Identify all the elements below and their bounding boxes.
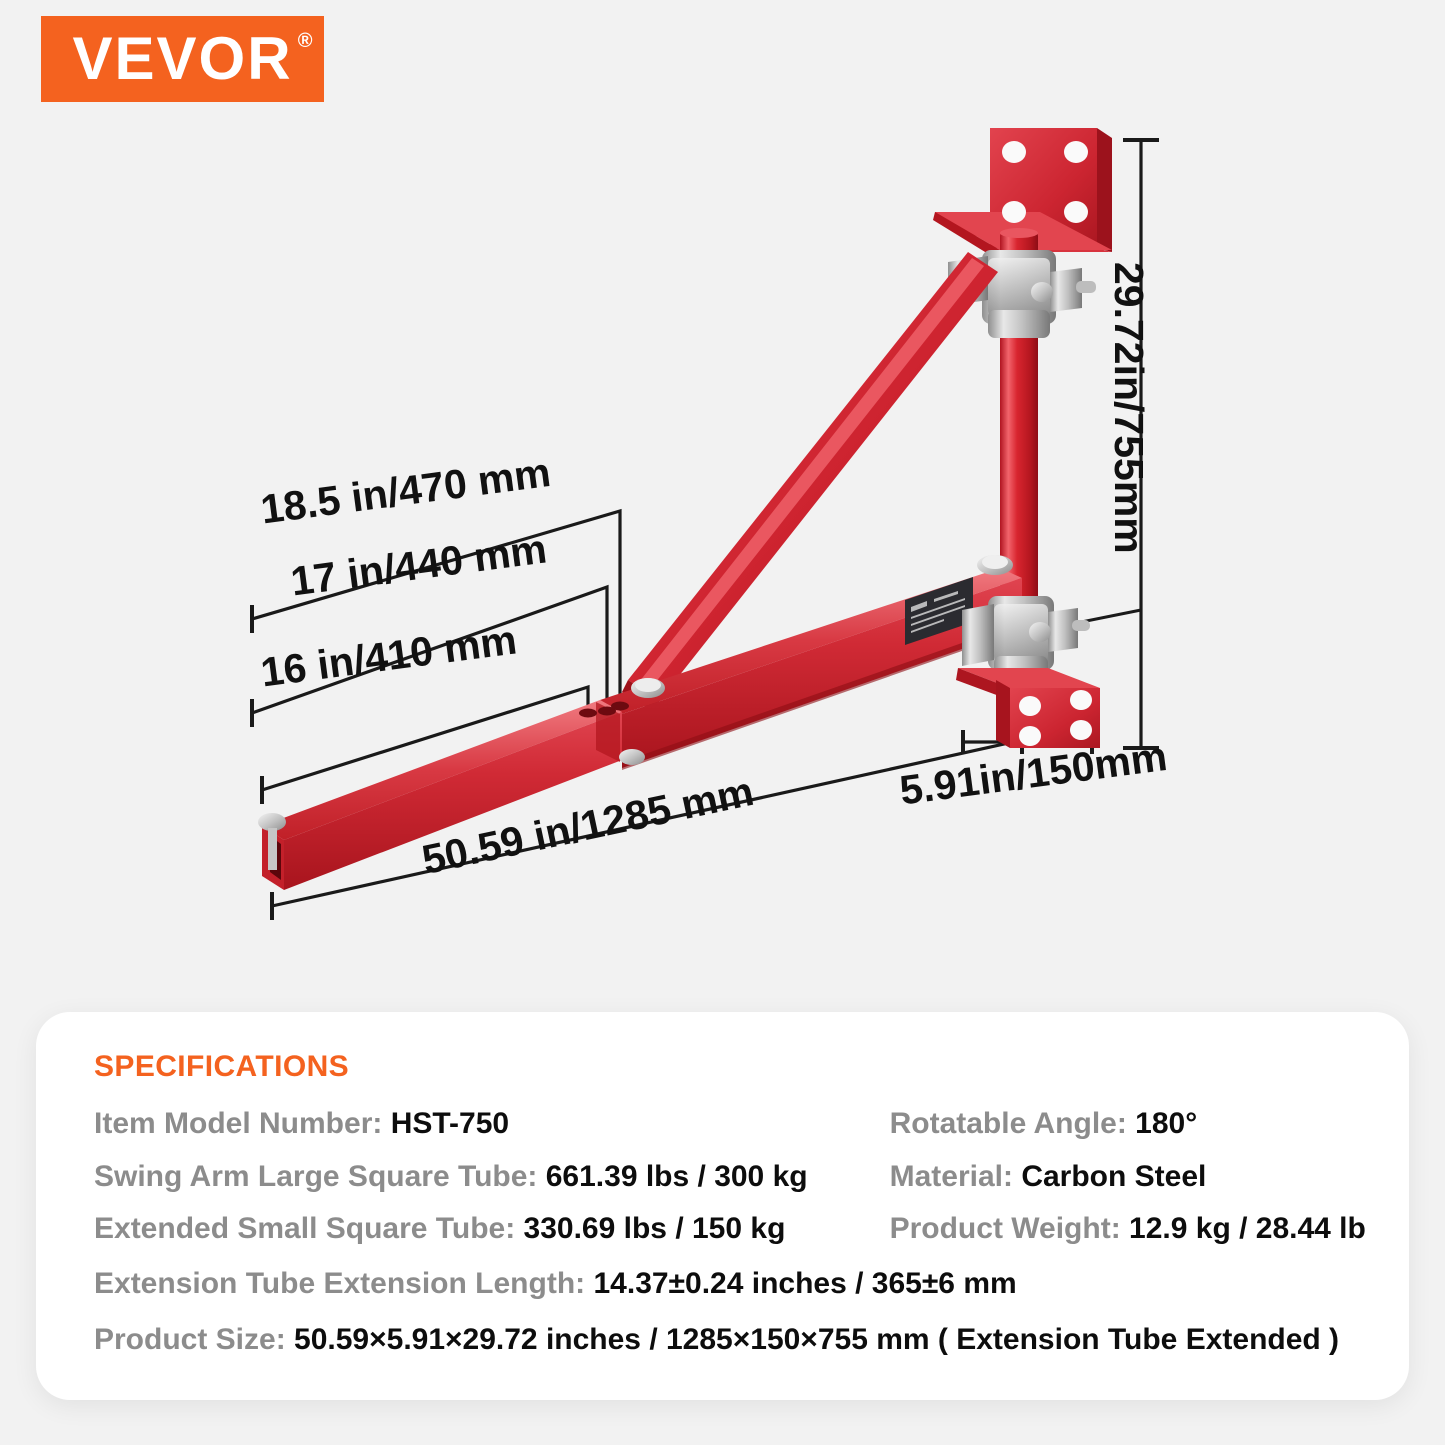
spec-row-item-model-number: Item Model Number: HST-750 bbox=[94, 1104, 808, 1145]
spec-value: HST-750 bbox=[391, 1107, 509, 1140]
specifications-grid: Item Model Number: HST-750 Rotatable Ang… bbox=[94, 1104, 1367, 1250]
product-illustration-svg bbox=[0, 0, 1445, 990]
spec-row-extended-small-square-tube: Extended Small Square Tube: 330.69 lbs /… bbox=[94, 1209, 808, 1250]
spec-label: Extended Small Square Tube: bbox=[94, 1212, 515, 1245]
spec-label: Product Size: bbox=[94, 1323, 286, 1356]
spec-row-product-size: Product Size: 50.59×5.91×29.72 inches / … bbox=[94, 1320, 1367, 1361]
specifications-card: SPECIFICATIONS Item Model Number: HST-75… bbox=[36, 1012, 1409, 1400]
spec-value: 12.9 kg / 28.44 lb bbox=[1129, 1212, 1366, 1245]
spec-row-extension-tube-length: Extension Tube Extension Length: 14.37±0… bbox=[94, 1264, 1367, 1305]
spec-value: Carbon Steel bbox=[1021, 1160, 1206, 1193]
spec-value: 661.39 lbs / 300 kg bbox=[546, 1160, 808, 1193]
spec-value: 180° bbox=[1135, 1107, 1197, 1140]
spec-value: 50.59×5.91×29.72 inches / 1285×150×755 m… bbox=[294, 1323, 1339, 1356]
spec-label: Swing Arm Large Square Tube: bbox=[94, 1160, 537, 1193]
spec-label: Product Weight: bbox=[890, 1212, 1121, 1245]
spec-value: 330.69 lbs / 150 kg bbox=[524, 1212, 786, 1245]
spec-value: 14.37±0.24 inches / 365±6 mm bbox=[593, 1267, 1016, 1300]
spec-row-rotatable-angle: Rotatable Angle: 180° bbox=[838, 1104, 1367, 1145]
dimension-label-post-height: 29.72in/755mm bbox=[1105, 262, 1152, 554]
arm-post-pivot-bolt bbox=[977, 555, 1013, 575]
spec-row-product-weight: Product Weight: 12.9 kg / 28.44 lb bbox=[838, 1209, 1367, 1250]
bottom-mounting-bracket bbox=[956, 668, 1100, 748]
spec-label: Item Model Number: bbox=[94, 1107, 382, 1140]
specifications-heading: SPECIFICATIONS bbox=[94, 1050, 1367, 1084]
arm-lower-bolt bbox=[619, 749, 645, 765]
spec-row-swing-arm-large-square-tube: Swing Arm Large Square Tube: 661.39 lbs … bbox=[94, 1157, 808, 1198]
spec-label: Rotatable Angle: bbox=[890, 1107, 1127, 1140]
spec-label: Extension Tube Extension Length: bbox=[94, 1267, 585, 1300]
product-diagram: 18.5 in/470 mm 17 in/440 mm 16 in/410 mm… bbox=[0, 0, 1445, 990]
brace-arm-bolt bbox=[631, 678, 665, 698]
spec-row-material: Material: Carbon Steel bbox=[838, 1157, 1367, 1198]
spec-label: Material: bbox=[890, 1160, 1013, 1193]
